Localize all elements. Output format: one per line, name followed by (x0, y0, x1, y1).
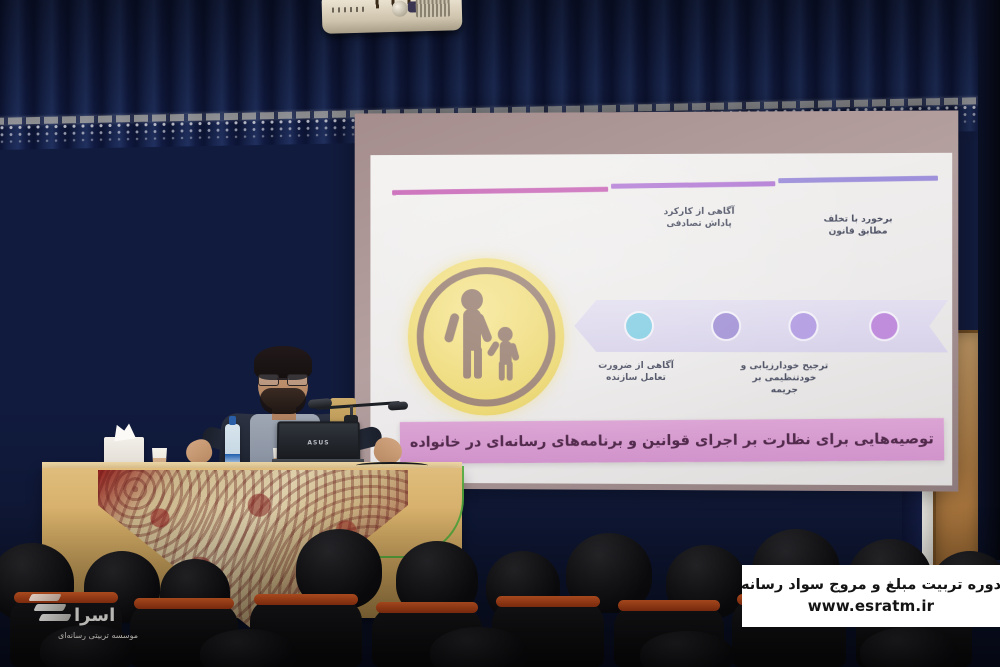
asra-watermark-logo: اسرا موسسه تربیتی رسانه‌ای (22, 591, 172, 649)
projector-lens-icon (392, 1, 408, 17)
parent-and-child-pictogram-icon (443, 289, 528, 385)
dot-4 (871, 313, 897, 339)
asra-logo-mark-icon (30, 591, 70, 631)
presenter-beard (260, 388, 306, 414)
asra-logo-word: اسرا (74, 605, 115, 626)
slide-label-top-right: برخورد با تخلف مطابق قانون (819, 213, 898, 237)
slide-title-bar: توصیه‌هایی برای نظارت بر اجرای قوانین و … (400, 418, 945, 464)
slide-label-bottom-right: ترجیح خودارزیابی و خودتنظیمی بر جریمه (740, 360, 829, 396)
dot-1 (626, 313, 652, 339)
asra-logo-subtitle: موسسه تربیتی رسانه‌ای (28, 631, 168, 640)
slide-label-bottom-left: آگاهی از ضرورت تعامل سازنده (590, 360, 682, 384)
bar-purple (611, 181, 775, 189)
right-wall (978, 0, 1000, 560)
bar-violet (778, 176, 938, 183)
glasses-icon (258, 374, 308, 384)
projector-indicator-lights (332, 7, 368, 13)
projector-vent (416, 0, 450, 17)
ceiling-projector (322, 0, 463, 34)
slide-top-bars (392, 178, 938, 195)
caption-website[interactable]: www.esratm.ir (808, 597, 935, 615)
microphone-head-right (388, 401, 409, 410)
screenshot-root: آگاهی از کارکرد پاداش تصادفی برخورد با ت… (0, 0, 1000, 667)
parent-child-badge-icon (408, 258, 564, 416)
slide-label-top-left: آگاهی از کارکرد پاداش تصادفی (656, 206, 742, 230)
bar-pink (392, 187, 608, 195)
projection-screen: آگاهی از کارکرد پاداش تصادفی برخورد با ت… (355, 110, 959, 491)
milestone-dots (574, 300, 948, 352)
laptop-brand-label: ASUS (307, 440, 329, 447)
presentation-slide: آگاهی از کارکرد پاداش تصادفی برخورد با ت… (370, 153, 952, 486)
caption-box: دوره تربیت مبلغ و مروج سواد رسانه www.es… (742, 565, 1000, 627)
caption-title: دوره تربیت مبلغ و مروج سواد رسانه (741, 577, 1000, 593)
dot-2 (713, 313, 739, 339)
dot-3 (790, 313, 816, 339)
slide-title-text: توصیه‌هایی برای نظارت بر اجرای قوانین و … (410, 431, 934, 450)
